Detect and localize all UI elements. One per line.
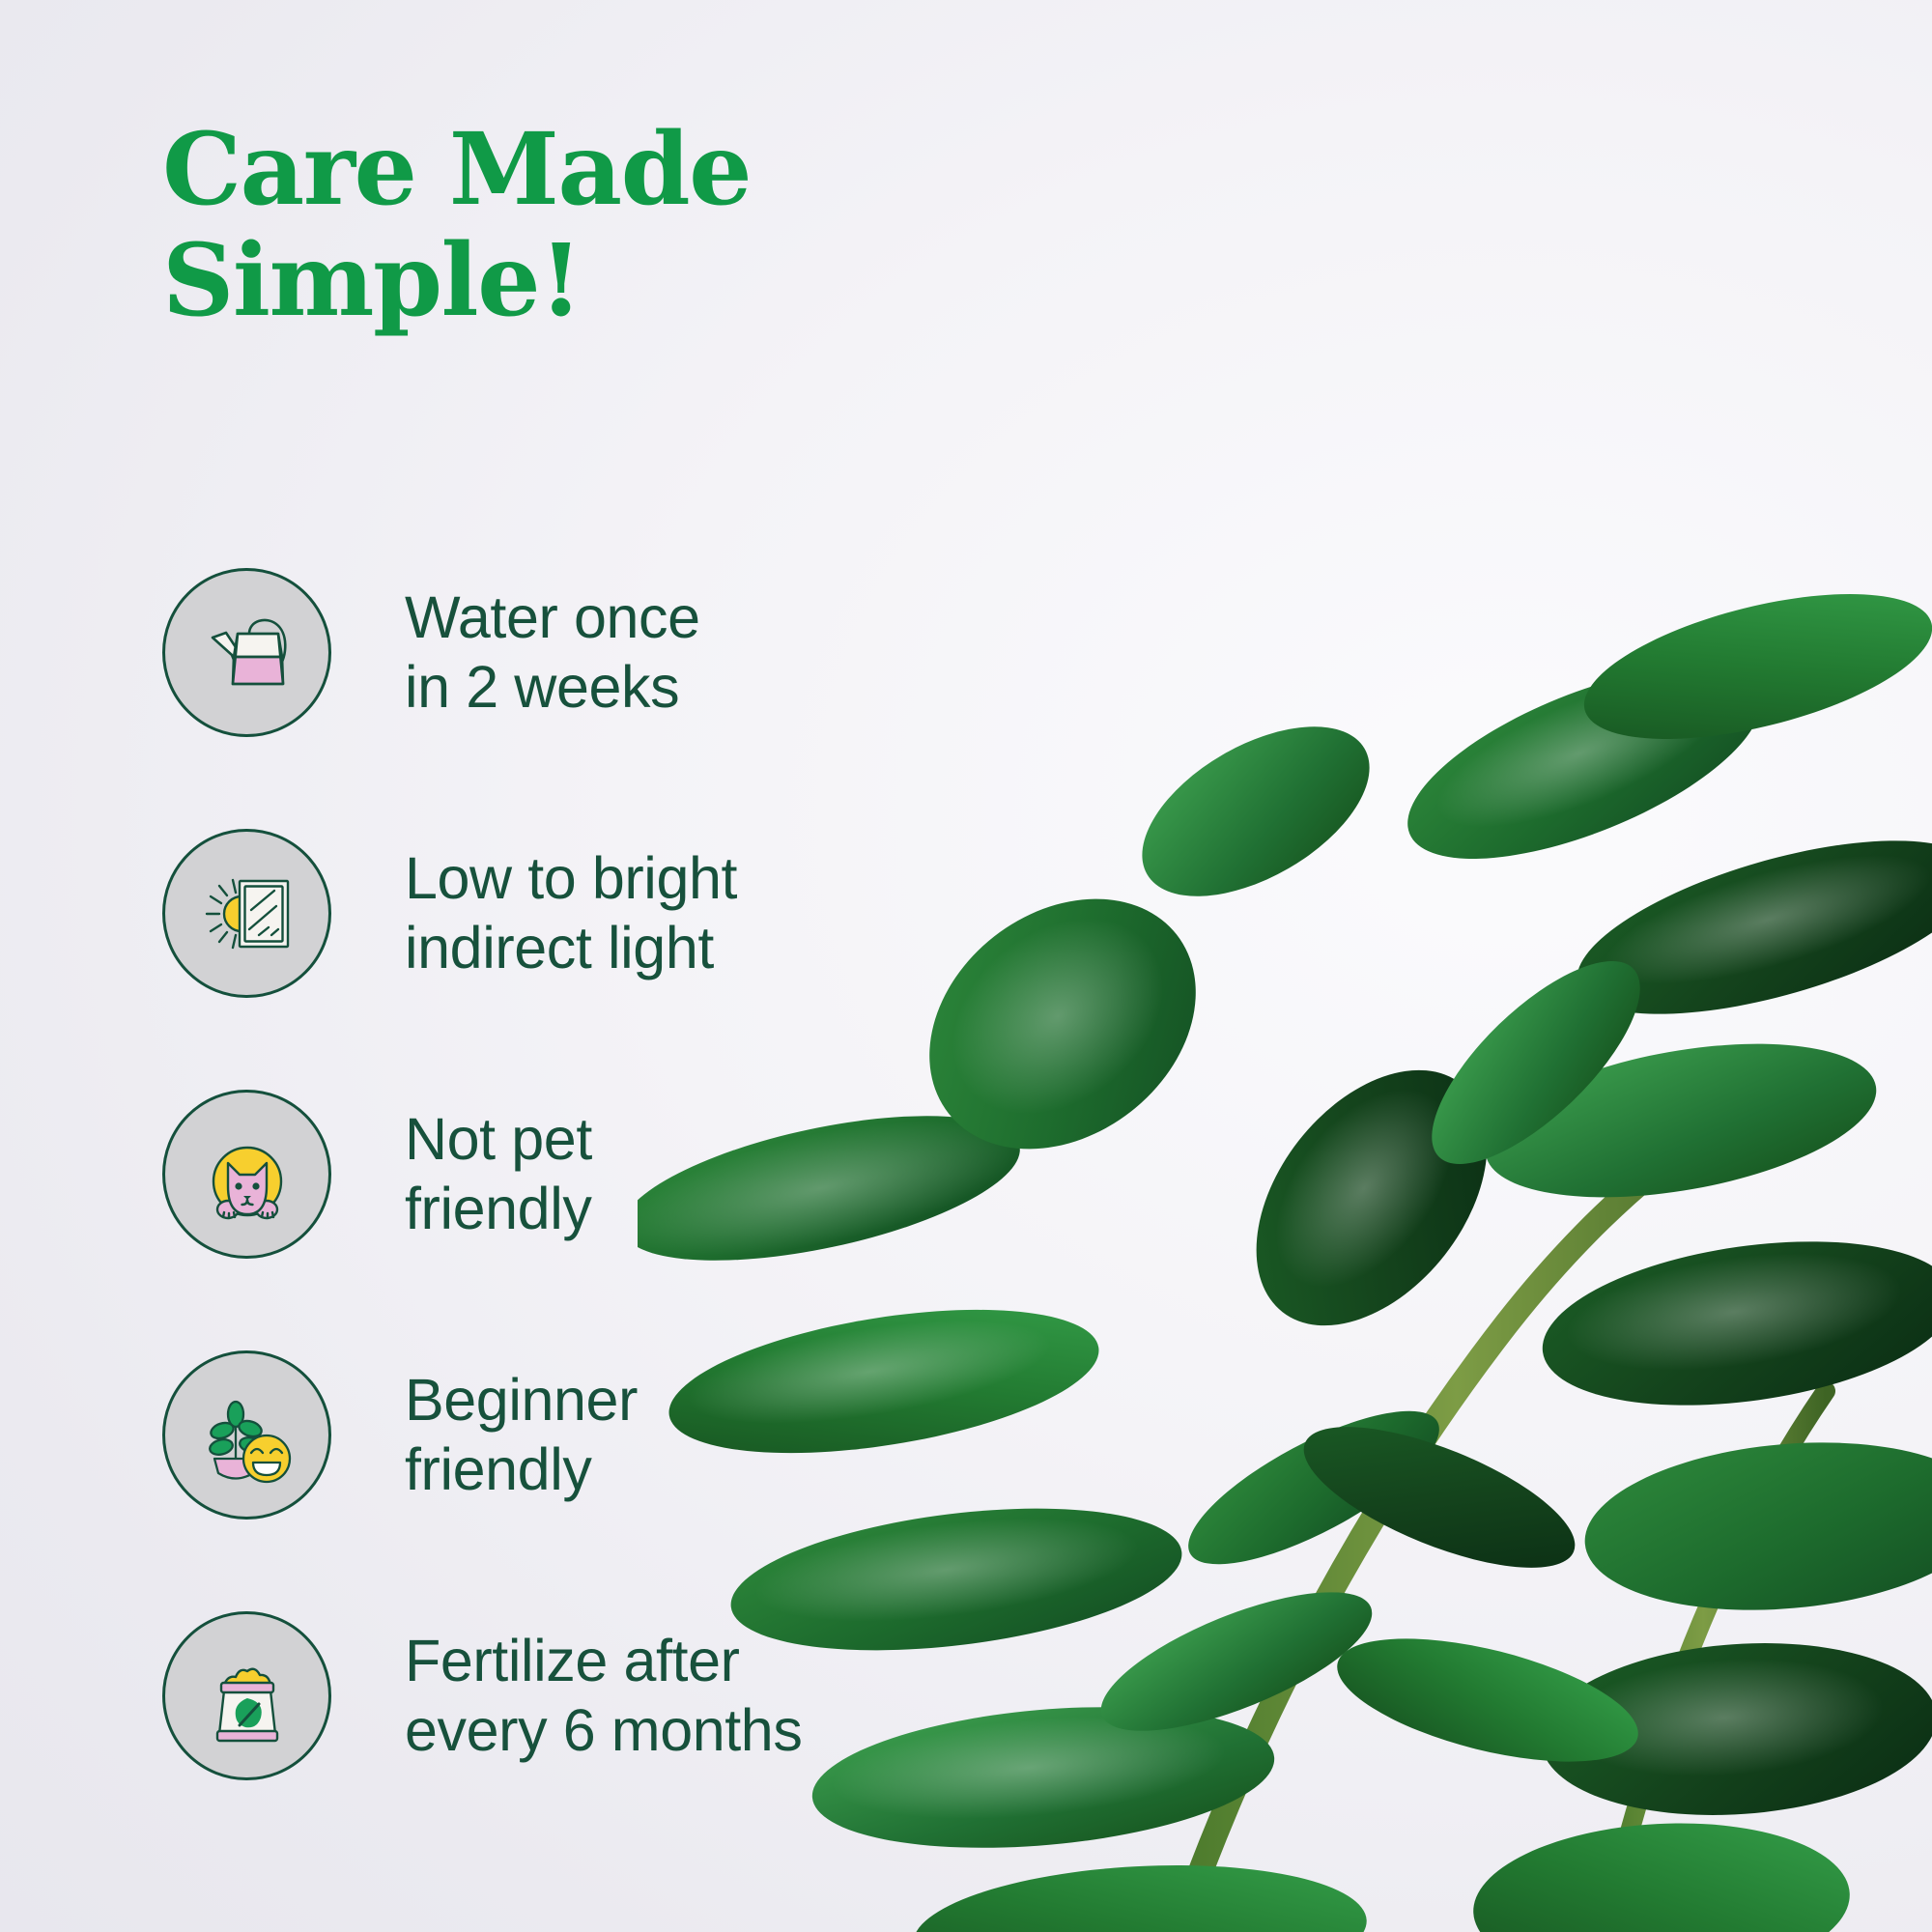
list-item-label: Beginner friendly [405,1366,638,1505]
fertilizer-bag-icon [162,1611,331,1780]
list-item-label: Low to bright indirect light [405,844,737,983]
care-instructions-list: Water once in 2 weeks [162,568,896,1780]
sun-window-icon [162,829,331,998]
list-item-label: Water once in 2 weeks [405,583,700,723]
list-item: Low to bright indirect light [162,829,896,998]
list-item-label: Fertilize after every 6 months [405,1627,802,1766]
cat-icon [162,1090,331,1259]
watering-can-icon [162,568,331,737]
page-title: Care Made Simple! [162,114,1032,337]
list-item: Beginner friendly [162,1350,896,1520]
list-item: Not pet friendly [162,1090,896,1259]
care-info-poster: Care Made Simple! [0,0,1932,1932]
list-item: Fertilize after every 6 months [162,1611,896,1780]
list-item: Water once in 2 weeks [162,568,896,737]
list-item-label: Not pet friendly [405,1105,592,1244]
potted-plant-smiley-icon [162,1350,331,1520]
